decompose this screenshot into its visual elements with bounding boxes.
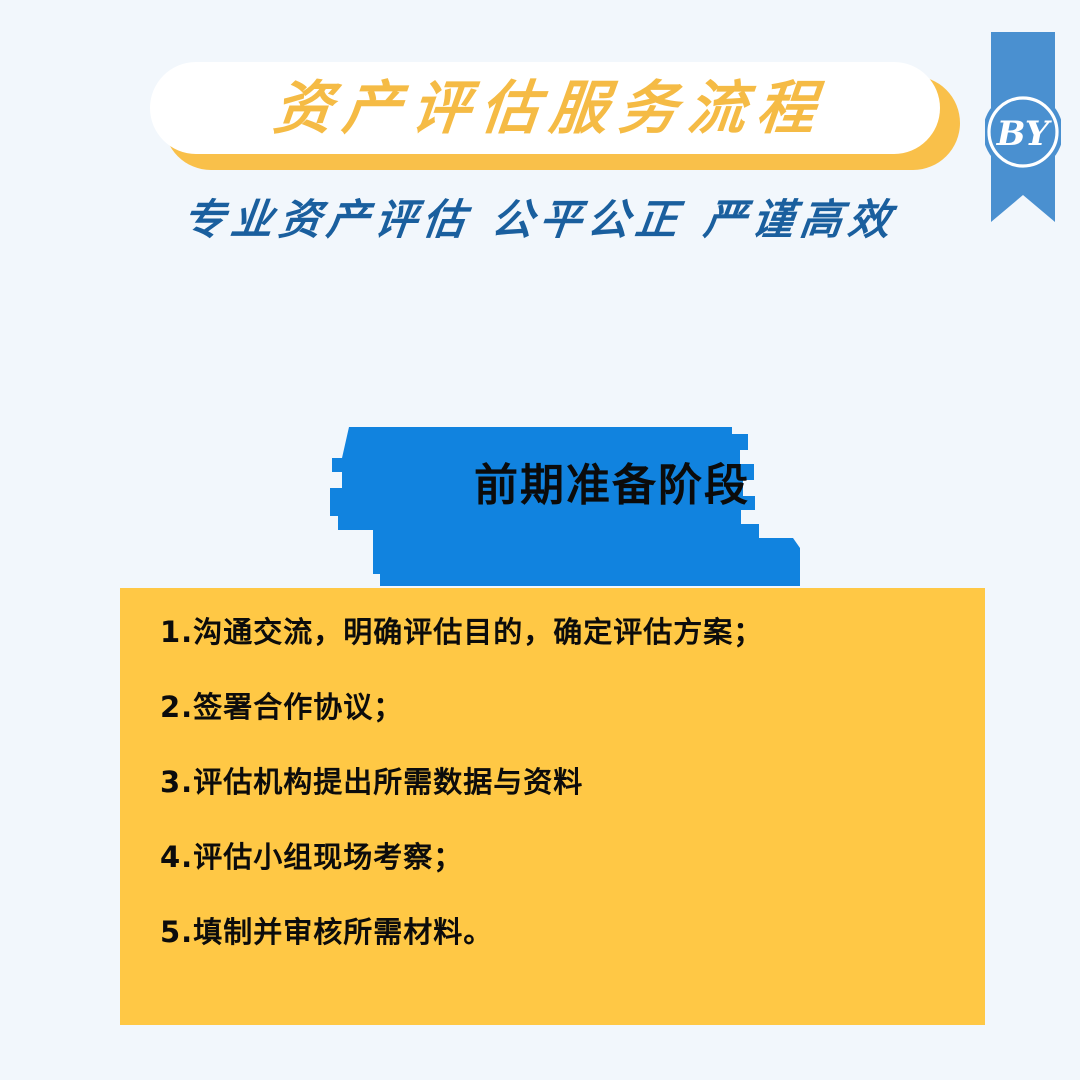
step-item: 5.填制并审核所需材料。 bbox=[160, 918, 945, 947]
steps-list: 1.沟通交流，明确评估目的，确定评估方案； 2.签署合作协议； 3.评估机构提出… bbox=[160, 618, 945, 947]
page-subtitle: 专业资产评估 公平公正 严谨高效 bbox=[0, 186, 1080, 247]
step-item: 3.评估机构提出所需数据与资料 bbox=[160, 768, 945, 797]
poster-canvas: 资产评估服务流程 专业资产评估 公平公正 严谨高效 BY 前期准备阶段 1.沟通… bbox=[0, 0, 1080, 1080]
steps-panel: 1.沟通交流，明确评估目的，确定评估方案； 2.签署合作协议； 3.评估机构提出… bbox=[120, 588, 985, 1025]
step-item: 2.签署合作协议； bbox=[160, 693, 945, 722]
stage-banner: 前期准备阶段 bbox=[318, 424, 814, 592]
brand-ribbon-badge: BY bbox=[985, 32, 1061, 232]
poster-header: 资产评估服务流程 专业资产评估 公平公正 严谨高效 BY bbox=[0, 0, 1080, 270]
step-item: 1.沟通交流，明确评估目的，确定评估方案； bbox=[160, 618, 945, 647]
title-pill: 资产评估服务流程 bbox=[150, 62, 940, 154]
stage-title: 前期准备阶段 bbox=[318, 464, 814, 508]
step-item: 4.评估小组现场考察； bbox=[160, 843, 945, 872]
badge-initials-text: BY bbox=[996, 114, 1052, 154]
ribbon-icon: BY bbox=[985, 32, 1061, 232]
title-banner: 资产评估服务流程 bbox=[150, 62, 960, 170]
page-title: 资产评估服务流程 bbox=[260, 79, 829, 137]
